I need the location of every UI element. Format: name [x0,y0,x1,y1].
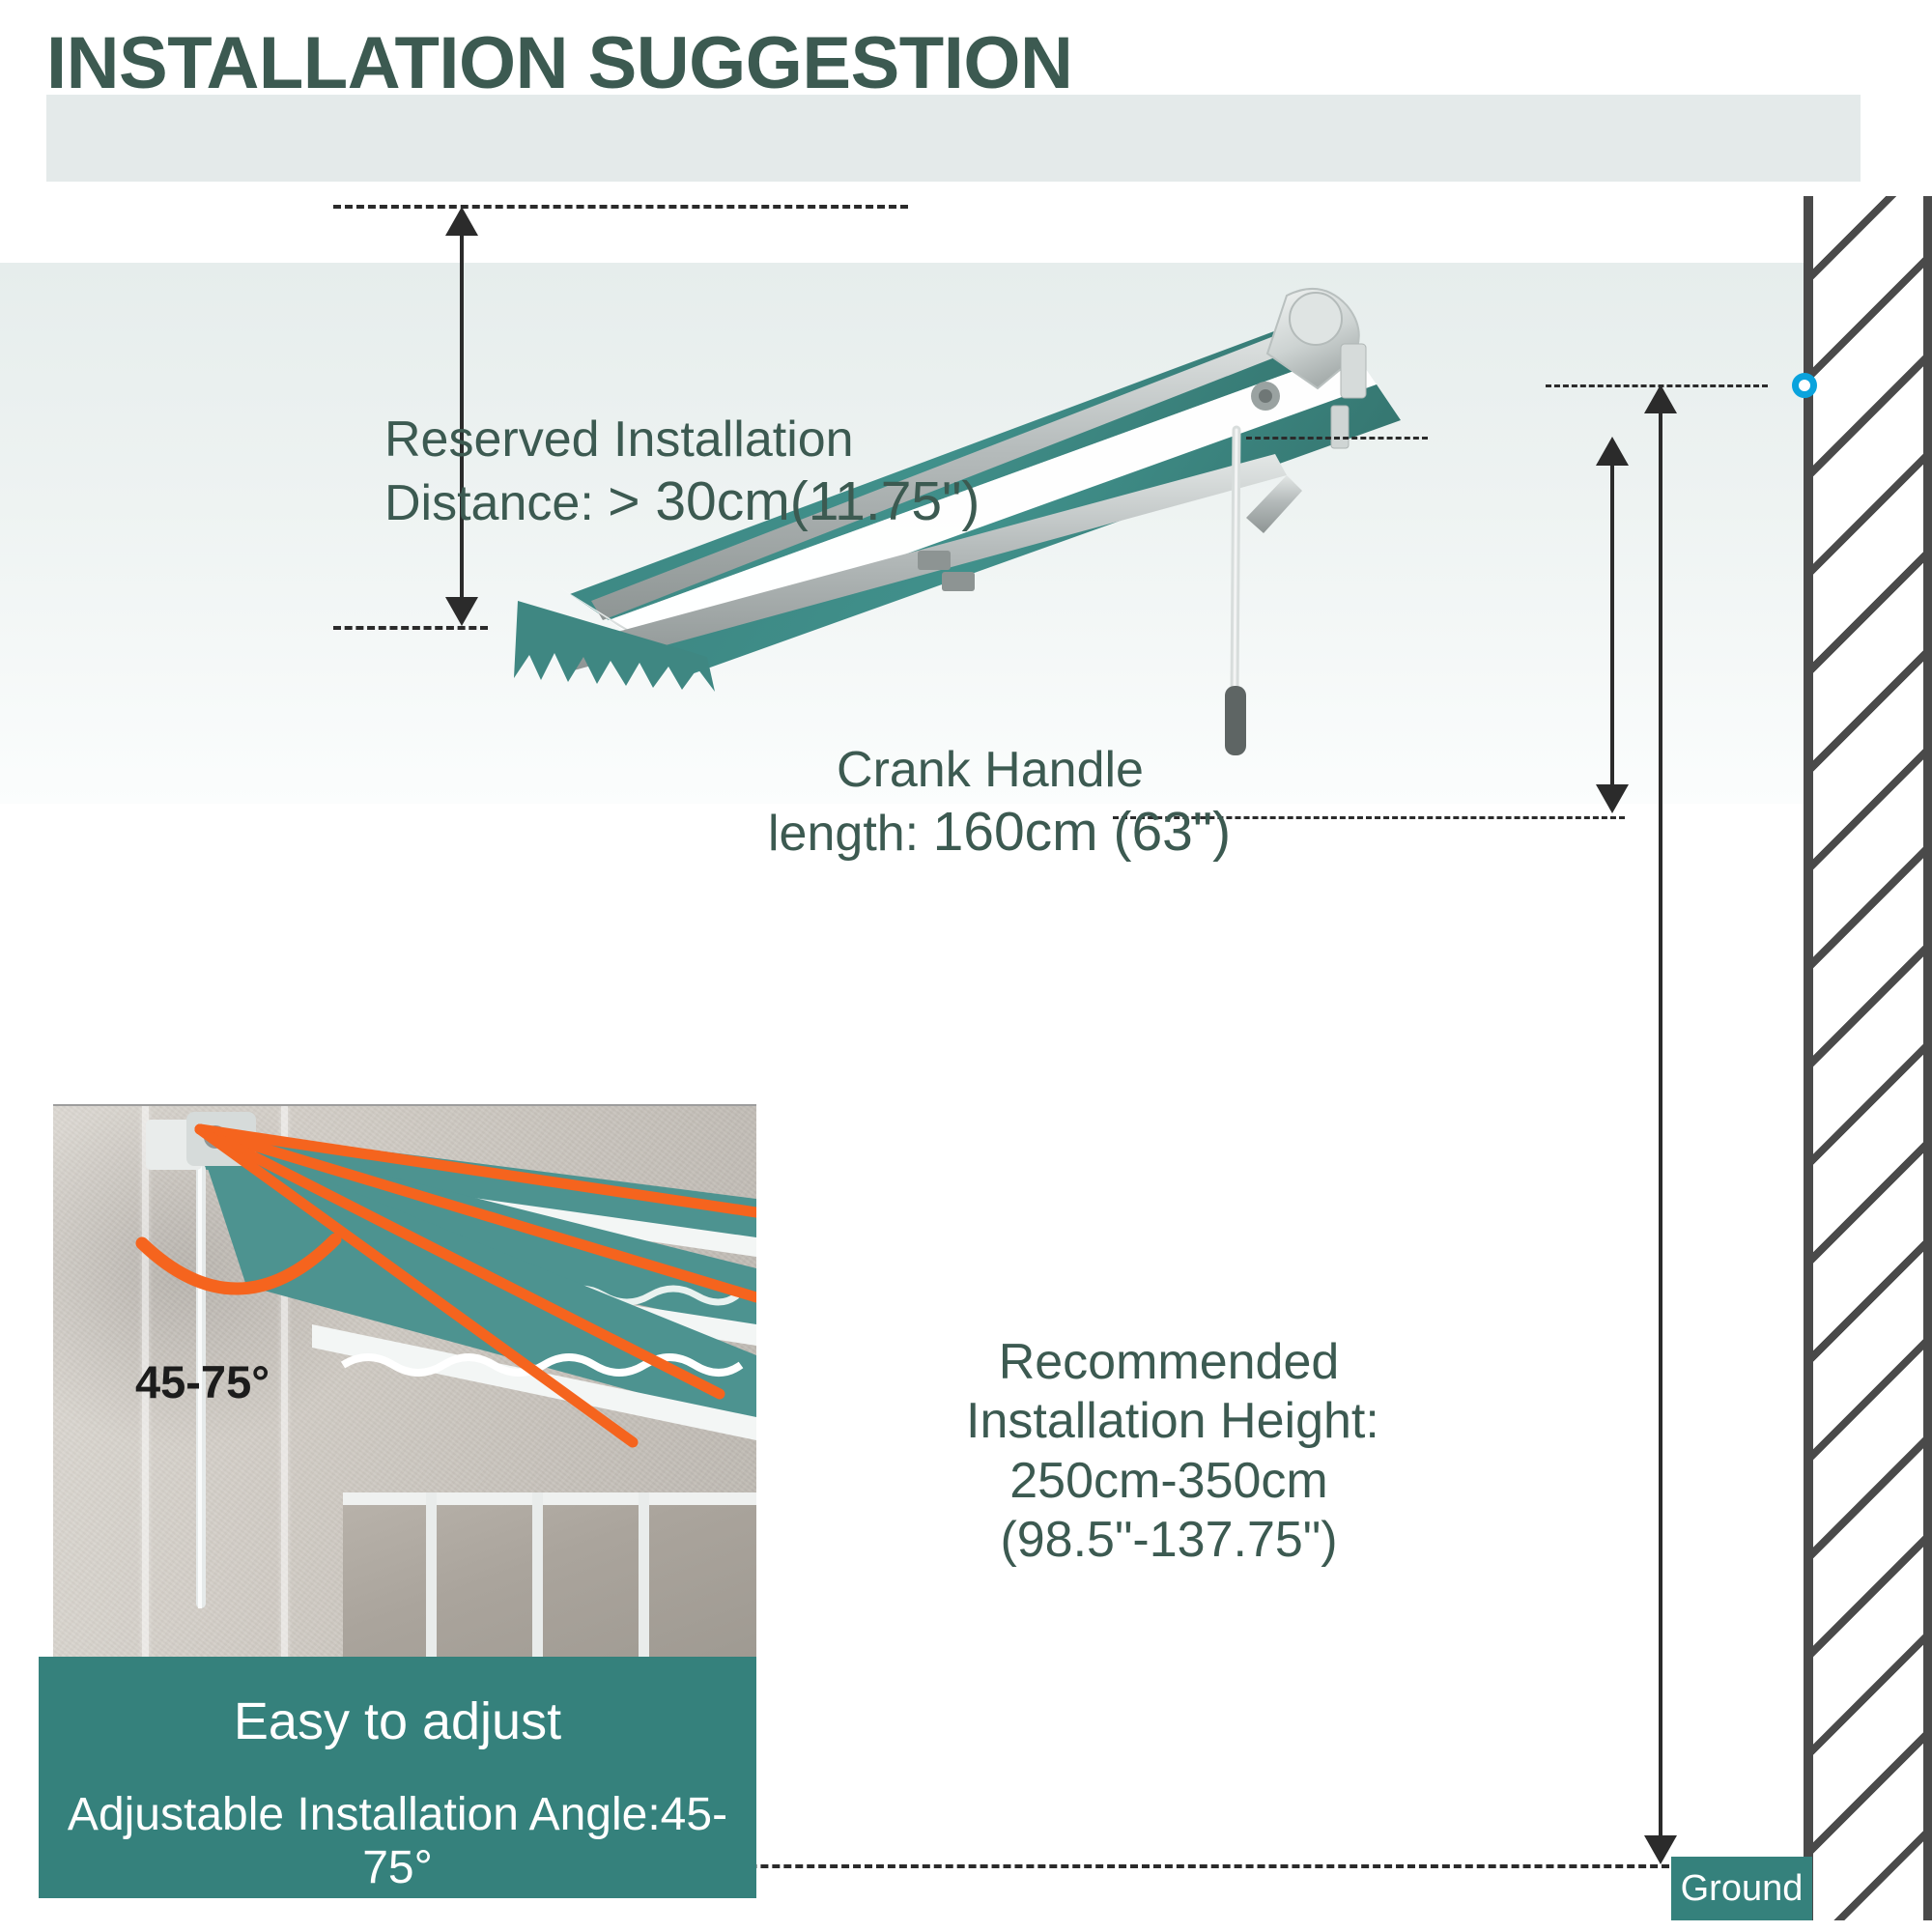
photo-caption-bar: Easy to adjust Adjustable Installation A… [39,1657,756,1898]
dim-top-dashed-line [333,205,908,209]
wall-bracket [1341,344,1366,398]
roller-end-cap [1290,293,1342,345]
dim-reserved-bottom-dashed [333,626,488,630]
caption-title: Easy to adjust [39,1691,756,1751]
dim-height-vertical [1659,402,1662,1849]
mount-point-marker-icon [1792,373,1817,398]
angle-range-label: 45-75° [135,1355,270,1408]
crank-rod-highlight [1235,430,1236,694]
callout-reserved-distance: Reserved Installation Distance: > 30cm(1… [384,411,980,535]
height-line-4: (98.5"-137.75") [966,1511,1372,1570]
height-line-1: Recommended [966,1333,1372,1392]
angle-adjust-photo: 45-75° [53,1104,756,1659]
height-line-3: 250cm-350cm [966,1452,1372,1511]
crank-value: 160cm (63") [933,801,1232,863]
arrow-down-icon-reserved-bottom [445,597,478,626]
gear-pin [1259,389,1272,403]
dim-crank-top-dashed [1246,437,1428,440]
crank-line-2: length: 160cm (63") [768,800,1212,865]
reserved-value: > 30cm(11.75") [608,470,980,532]
ground-dashed-line [599,1864,1681,1868]
wall-bracket-lower [1331,406,1349,448]
crank-grip [1225,686,1246,755]
arm-joint-upper [918,551,951,570]
title-background-band [46,95,1861,182]
building-wall-hatched [1804,196,1932,1920]
infographic-canvas: INSTALLATION SUGGESTION [0,0,1932,1932]
wall-hatch-pattern [1813,196,1932,1920]
reserved-line-2: Distance: > 30cm(11.75") [384,469,980,534]
callout-recommended-height: Recommended Installation Height: 250cm-3… [966,1333,1372,1570]
height-line-2: Installation Height: [966,1392,1372,1451]
crank-prefix: length: [768,806,933,862]
reserved-prefix: Distance: [384,475,608,531]
arm-joint-lower [942,572,975,591]
wall-right-edge [1923,196,1932,1920]
callout-crank-handle: Crank Handle length: 160cm (63") [768,741,1212,866]
page-title: INSTALLATION SUGGESTION [46,27,1399,100]
arrow-down-icon-crank-bottom [1596,784,1629,813]
reserved-line-1: Reserved Installation [384,411,980,469]
ground-label-badge: Ground [1671,1857,1812,1920]
crank-line-1: Crank Handle [768,741,1212,800]
dim-crank-vertical [1610,454,1614,800]
caption-subtitle: Adjustable Installation Angle:45-75° [39,1788,756,1894]
